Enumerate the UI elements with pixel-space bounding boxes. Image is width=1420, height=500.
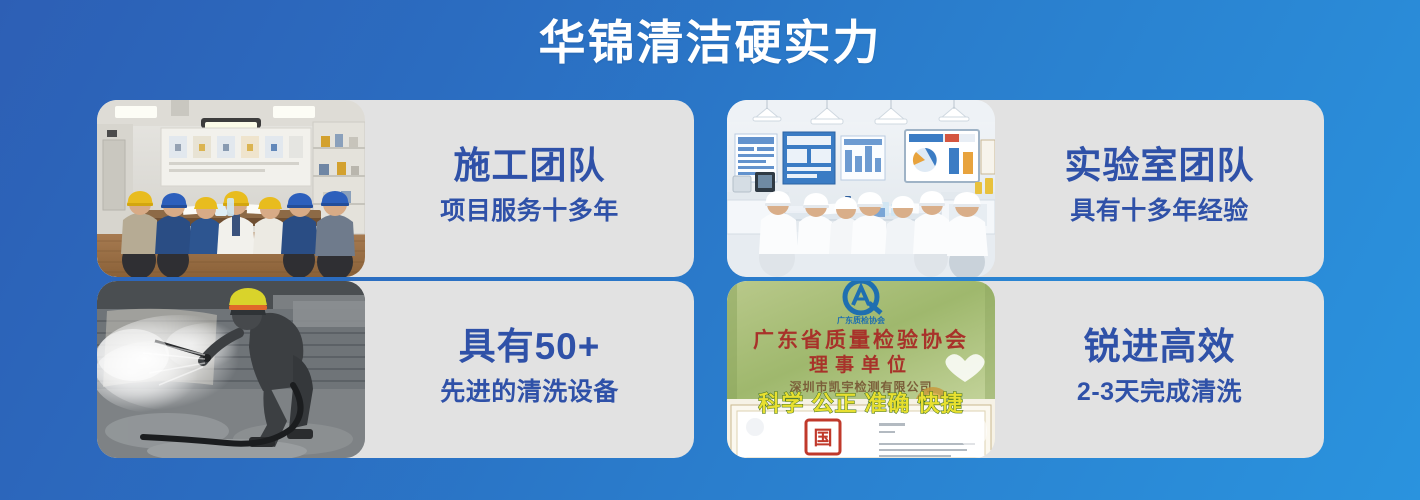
card-subtitle: 项目服务十多年: [440, 194, 619, 228]
card-subtitle: 2-3天完成清洗: [1077, 375, 1242, 409]
feature-card-text: 施工团队 项目服务十多年: [365, 100, 694, 277]
construction-team-meeting-photo: [97, 100, 365, 277]
page-title: 华锦清洁硬实力: [0, 13, 1420, 73]
feature-card-text: 具有50+ 先进的清洗设备: [365, 281, 694, 458]
card-title: 具有50+: [459, 324, 601, 370]
certificate-logo-text: 广东质检协会: [837, 315, 885, 325]
card-title: 施工团队: [454, 143, 606, 189]
certificate-banner: 科学 公正 准确 快捷: [758, 391, 963, 416]
high-pressure-washing-photo: [97, 281, 365, 458]
card-title: 锐进高效: [1084, 324, 1236, 370]
certificate-line2: 理事单位: [809, 353, 913, 376]
certificate-seal-text: 国: [813, 427, 832, 449]
feature-card-grid: 施工团队 项目服务十多年: [97, 100, 1324, 458]
card-subtitle: 先进的清洗设备: [440, 375, 619, 409]
promo-banner: 华锦清洁硬实力: [0, 0, 1420, 500]
certificate-photo: 广东质检协会 广东省质量检验协会 理事单位 深圳市凯宇检测有限公司: [727, 281, 995, 458]
certificate-line1: 广东省质量检验协会: [753, 328, 969, 352]
card-title: 实验室团队: [1065, 143, 1255, 189]
feature-card-efficiency[interactable]: 广东质检协会 广东省质量检验协会 理事单位 深圳市凯宇检测有限公司: [727, 281, 1324, 458]
card-subtitle: 具有十多年经验: [1070, 194, 1249, 228]
laboratory-team-meeting-photo: [727, 100, 995, 277]
feature-card-equipment[interactable]: 具有50+ 先进的清洗设备: [97, 281, 694, 458]
feature-card-construction-team[interactable]: 施工团队 项目服务十多年: [97, 100, 694, 277]
feature-card-text: 锐进高效 2-3天完成清洗: [995, 281, 1324, 458]
feature-card-text: 实验室团队 具有十多年经验: [995, 100, 1324, 277]
feature-card-laboratory-team[interactable]: 实验室团队 具有十多年经验: [727, 100, 1324, 277]
